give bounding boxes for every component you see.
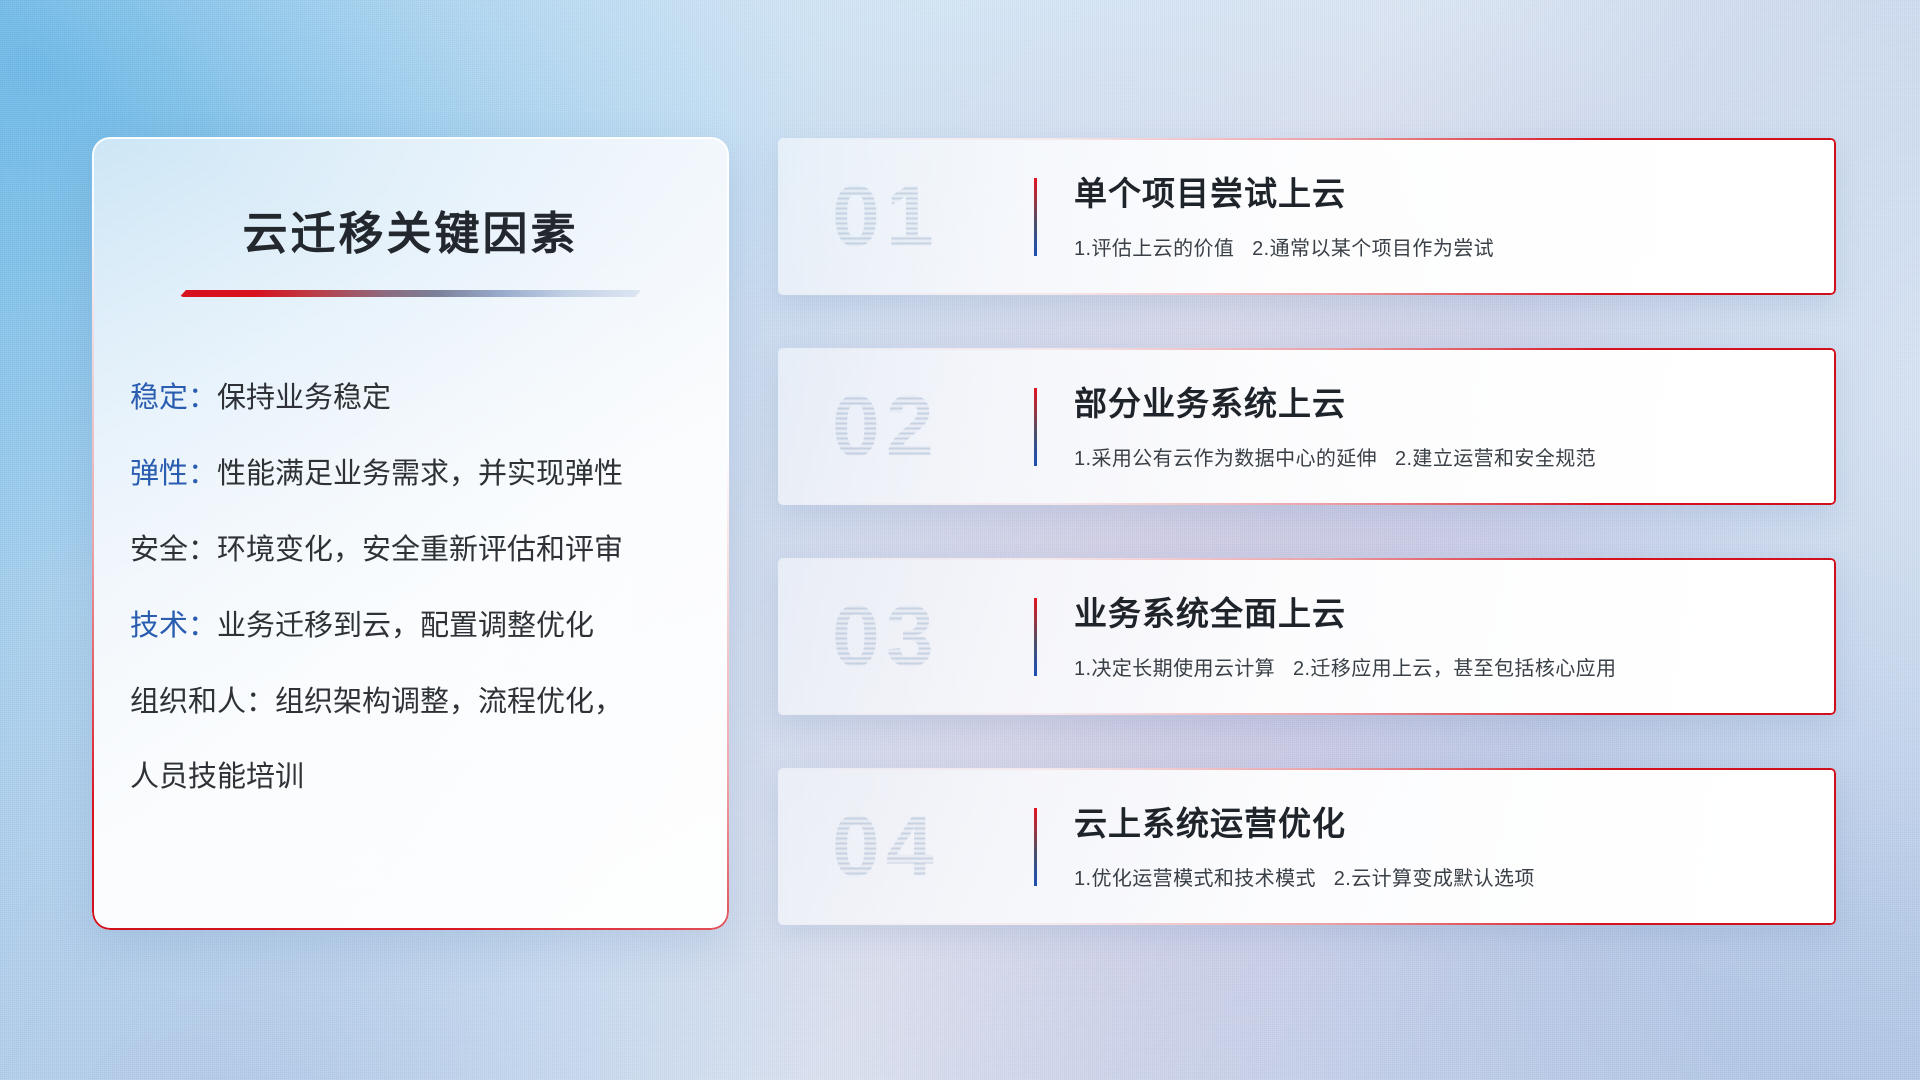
key-factor-item: 安全：环境变化，安全重新评估和评审: [130, 535, 729, 567]
key-factor-item: 组织和人：组织架构调整，流程优化，: [130, 687, 729, 719]
step-divider-bar: [1034, 808, 1037, 886]
step-body: 业务系统全面上云1.决定长期使用云计算 2.迁移应用上云，甚至包括核心应用: [1074, 594, 1812, 681]
key-factor-value: 环境变化，安全重新评估和评审: [217, 534, 623, 566]
key-factors-panel: 云迁移关键因素 稳定：保持业务稳定弹性：性能满足业务需求，并实现弹性安全：环境变…: [92, 137, 729, 930]
key-factor-label: 技术：: [130, 610, 217, 642]
title-underline-rule: [180, 290, 642, 297]
migration-step-card[interactable]: 04云上系统运营优化1.优化运营模式和技术模式 2.云计算变成默认选项: [778, 768, 1836, 925]
step-subtitle: 1.优化运营模式和技术模式 2.云计算变成默认选项: [1074, 862, 1812, 891]
step-title: 单个项目尝试上云: [1074, 174, 1812, 214]
migration-steps-list: 01单个项目尝试上云1.评估上云的价值 2.通常以某个项目作为尝试02部分业务系…: [778, 138, 1836, 925]
step-subtitle: 1.评估上云的价值 2.通常以某个项目作为尝试: [1074, 232, 1812, 261]
key-factor-value: 业务迁移到云，配置调整优化: [217, 610, 594, 642]
step-body: 部分业务系统上云1.采用公有云作为数据中心的延伸 2.建立运营和安全规范: [1074, 384, 1812, 471]
step-body: 单个项目尝试上云1.评估上云的价值 2.通常以某个项目作为尝试: [1074, 174, 1812, 261]
key-factor-value: 人员技能培训: [130, 761, 304, 793]
page-title: 云迁移关键因素: [92, 197, 729, 262]
key-factors-list: 稳定：保持业务稳定弹性：性能满足业务需求，并实现弹性安全：环境变化，安全重新评估…: [130, 383, 729, 794]
step-subtitle: 1.采用公有云作为数据中心的延伸 2.建立运营和安全规范: [1074, 442, 1812, 471]
migration-step-card[interactable]: 01单个项目尝试上云1.评估上云的价值 2.通常以某个项目作为尝试: [778, 138, 1836, 295]
key-factor-value: 保持业务稳定: [217, 382, 391, 414]
step-divider-bar: [1034, 178, 1037, 256]
key-factor-label: 安全：: [130, 534, 217, 566]
migration-step-card[interactable]: 03业务系统全面上云1.决定长期使用云计算 2.迁移应用上云，甚至包括核心应用: [778, 558, 1836, 715]
step-title: 云上系统运营优化: [1074, 804, 1812, 844]
key-factor-item: 技术：业务迁移到云，配置调整优化: [130, 611, 729, 643]
key-factor-item: 弹性：性能满足业务需求，并实现弹性: [130, 459, 729, 491]
key-factor-value: 性能满足业务需求，并实现弹性: [217, 458, 623, 490]
key-factor-label: 稳定：: [130, 382, 217, 414]
step-title: 业务系统全面上云: [1074, 594, 1812, 634]
migration-step-card[interactable]: 02部分业务系统上云1.采用公有云作为数据中心的延伸 2.建立运营和安全规范: [778, 348, 1836, 505]
key-factor-item: 稳定：保持业务稳定: [130, 383, 729, 415]
step-subtitle: 1.决定长期使用云计算 2.迁移应用上云，甚至包括核心应用: [1074, 652, 1812, 681]
step-number: 01: [832, 167, 940, 266]
step-divider-bar: [1034, 598, 1037, 676]
step-number: 02: [832, 377, 940, 476]
key-factor-label: 弹性：: [130, 458, 217, 490]
key-factor-item: 人员技能培训: [130, 762, 729, 794]
step-number: 03: [832, 587, 940, 686]
key-factor-label: 组织和人：: [130, 686, 275, 718]
step-number: 04: [832, 797, 940, 896]
step-title: 部分业务系统上云: [1074, 384, 1812, 424]
step-divider-bar: [1034, 388, 1037, 466]
key-factor-value: 组织架构调整，流程优化，: [275, 686, 623, 718]
step-body: 云上系统运营优化1.优化运营模式和技术模式 2.云计算变成默认选项: [1074, 804, 1812, 891]
